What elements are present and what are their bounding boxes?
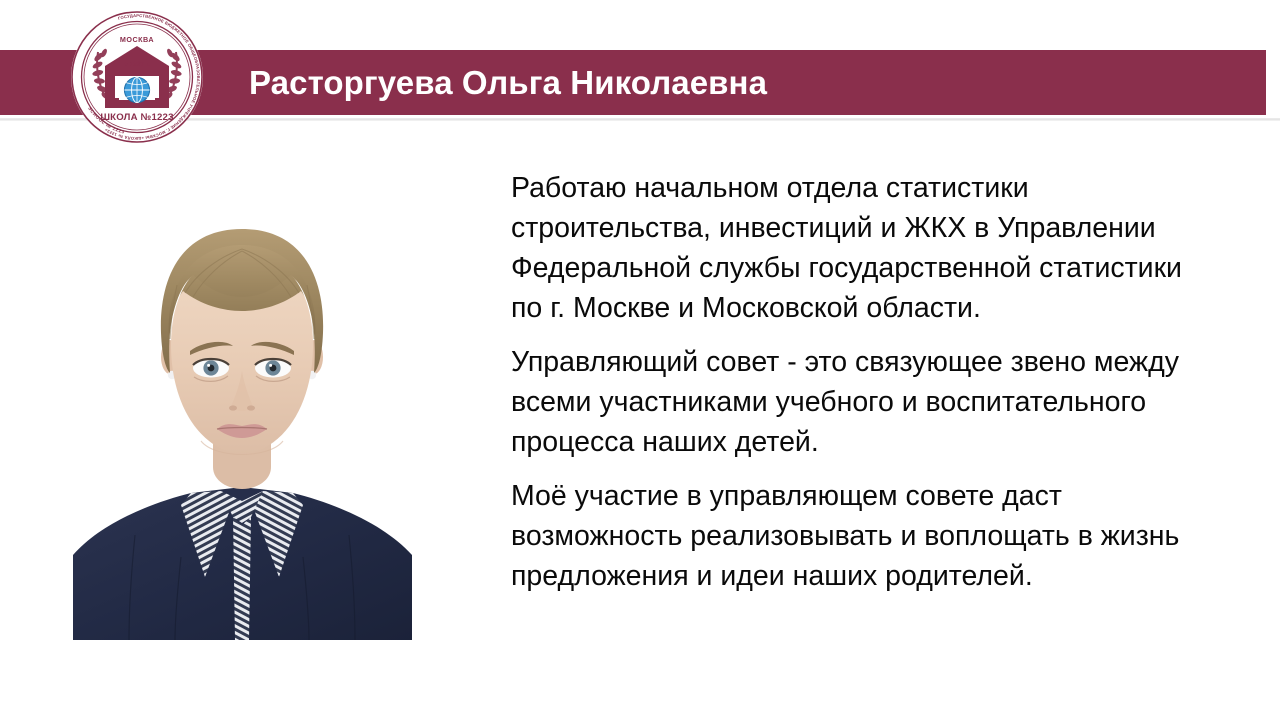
paragraph-3: Моё участие в управляющем совете даст во…	[511, 476, 1211, 596]
paragraph-1: Работаю начальном отдела статистики стро…	[511, 168, 1211, 328]
portrait-photo	[73, 205, 412, 640]
page-title: Расторгуева Ольга Николаевна	[249, 59, 1149, 107]
svg-text:МОСКВА: МОСКВА	[120, 35, 154, 44]
presentation-slide: Расторгуева Ольга Николаевна ГОСУДАРСТВЕ…	[0, 0, 1280, 720]
body-text-block: Работаю начальном отдела статистики стро…	[511, 168, 1211, 596]
svg-text:ШКОЛА №1223: ШКОЛА №1223	[100, 112, 173, 123]
school-emblem-logo: ГОСУДАРСТВЕННОЕ БЮДЖЕТНОЕ ОБЩЕОБРАЗОВАТЕ…	[68, 8, 206, 146]
svg-text:с 1937 г.: с 1937 г.	[124, 61, 149, 68]
globe-icon	[124, 77, 149, 102]
paragraph-2: Управляющий совет - это связующее звено …	[511, 342, 1211, 462]
